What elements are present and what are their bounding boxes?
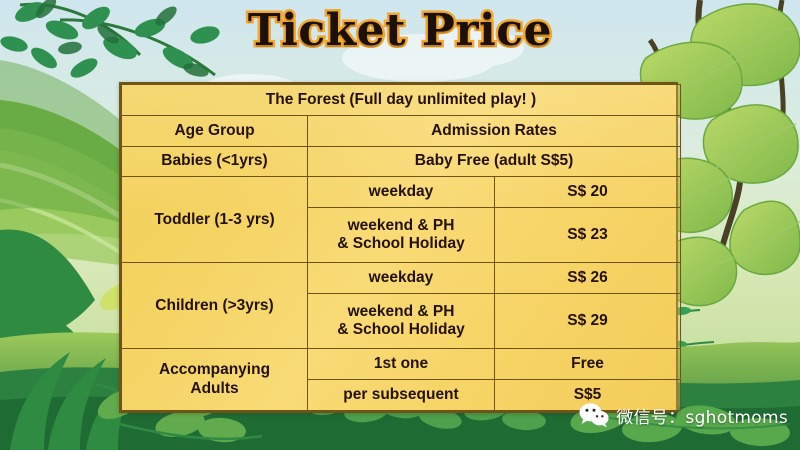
wechat-id-text: 微信号：sghotmoms [616,403,788,428]
cell-toddler-weekend-label-line1: weekend & PH [348,217,455,234]
page-title-wrap: Ticket Price [0,6,800,57]
cell-toddler-weekend-label-line2: & School Holiday [337,235,464,252]
cell-toddler-weekend-label: weekend & PH & School Holiday [308,208,495,263]
price-table: The Forest (Full day unlimited play! ) A… [121,84,681,411]
cell-toddler-weekday-price: S$ 20 [495,177,681,208]
cell-children-weekday-price: S$ 26 [495,263,681,294]
page-title: Ticket Price [248,6,552,57]
table-row-banner: The Forest (Full day unlimited play! ) [122,85,681,116]
price-table-container: The Forest (Full day unlimited play! ) A… [119,82,678,413]
cell-children-age-group: Children (>3yrs) [122,263,308,349]
table-banner-title: The Forest (Full day unlimited play! ) [122,85,681,116]
cell-children-weekend-label: weekend & PH & School Holiday [308,294,495,349]
cell-adults-first-price: Free [495,349,681,380]
wechat-watermark: 微信号：sghotmoms [579,402,788,428]
cell-toddler-weekday-label: weekday [308,177,495,208]
cell-babies-age-group: Babies (<1yrs) [122,146,308,177]
cell-toddler-weekend-price: S$ 23 [495,208,681,263]
cell-children-weekend-price: S$ 29 [495,294,681,349]
cell-children-weekend-label-line2: & School Holiday [337,321,464,338]
table-row-babies: Babies (<1yrs) Baby Free (adult S$5) [122,146,681,177]
cell-adults-age-group-line1: Accompanying [159,361,270,378]
cell-babies-rate: Baby Free (adult S$5) [308,146,681,177]
cell-adults-first-label: 1st one [308,349,495,380]
cell-adults-subsequent-label: per subsequent [308,380,495,411]
cell-children-weekday-label: weekday [308,263,495,294]
cell-adults-age-group: Accompanying Adults [122,349,308,411]
table-row-header: Age Group Admission Rates [122,115,681,146]
cell-toddler-age-group: Toddler (1-3 yrs) [122,177,308,263]
cell-children-weekend-label-line1: weekend & PH [348,303,455,320]
cell-adults-age-group-line2: Adults [190,380,238,397]
table-row-adults-first: Accompanying Adults 1st one Free [122,349,681,380]
table-row-toddler-weekday: Toddler (1-3 yrs) weekday S$ 20 [122,177,681,208]
header-age-group: Age Group [122,115,308,146]
header-admission-rates: Admission Rates [308,115,681,146]
table-row-children-weekday: Children (>3yrs) weekday S$ 26 [122,263,681,294]
wechat-icon [579,402,609,428]
